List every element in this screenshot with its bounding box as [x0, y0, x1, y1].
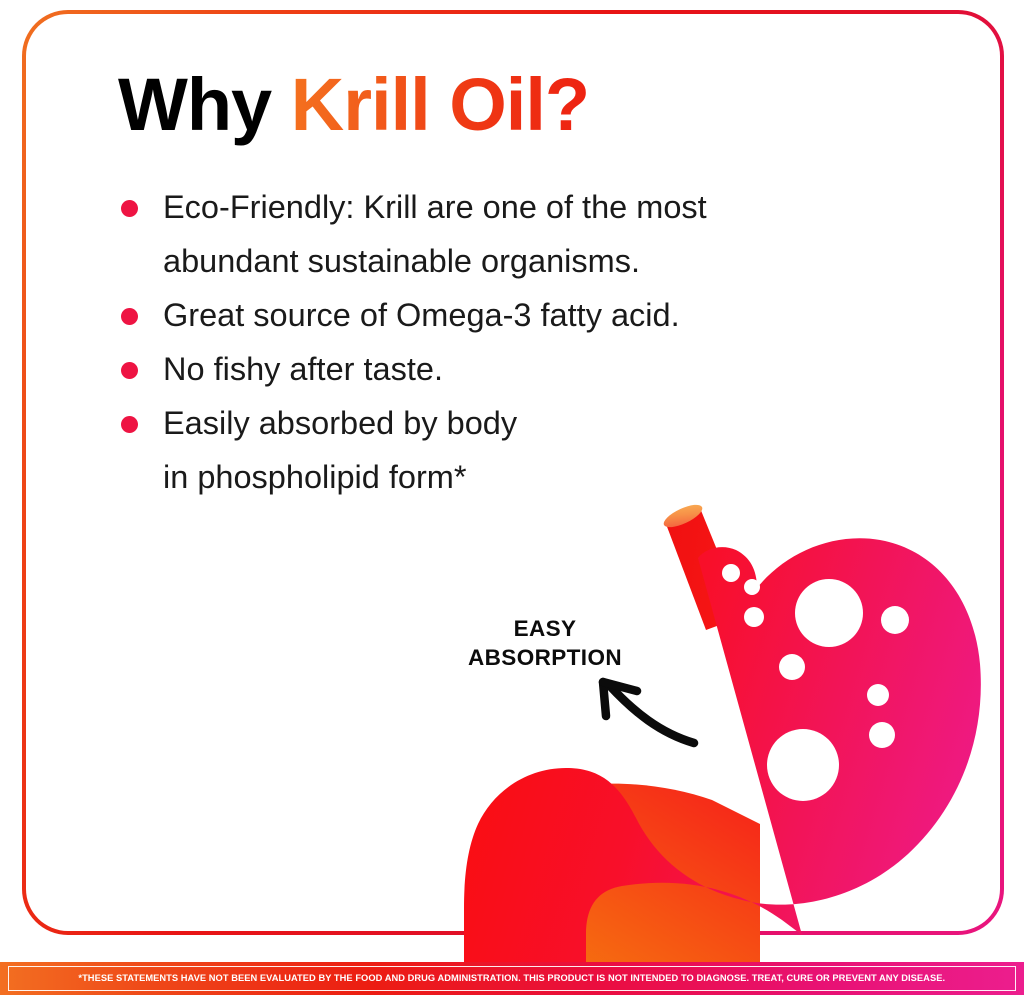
disclaimer-border: *THESE STATEMENTS HAVE NOT BEEN EVALUATE…: [8, 966, 1016, 991]
list-item-line-1: Eco-Friendly: Krill are one of the most: [163, 189, 707, 225]
bullet-dot-icon: [121, 308, 138, 325]
title-part-krill-oil: Krill Oil?: [291, 63, 589, 146]
bullet-dot-icon: [121, 362, 138, 379]
disclaimer-text: *THESE STATEMENTS HAVE NOT BEEN EVALUATE…: [79, 973, 946, 984]
annotation-line-2: ABSORPTION: [452, 643, 638, 672]
list-item: Easily absorbed by body in phospholipid …: [118, 396, 878, 504]
annotation-line-1: EASY: [452, 614, 638, 643]
list-item-line-2: in phospholipid form*: [163, 450, 878, 504]
list-item: Great source of Omega-3 fatty acid.: [118, 288, 878, 342]
list-item-line-1: Great source of Omega-3 fatty acid.: [163, 297, 680, 333]
easy-absorption-label: EASY ABSORPTION: [452, 614, 638, 672]
title-part-why: Why: [118, 63, 291, 146]
bullet-dot-icon: [121, 200, 138, 217]
fda-disclaimer-bar: *THESE STATEMENTS HAVE NOT BEEN EVALUATE…: [0, 962, 1024, 995]
benefits-list: Eco-Friendly: Krill are one of the most …: [118, 180, 878, 504]
list-item: Eco-Friendly: Krill are one of the most …: [118, 180, 878, 288]
krill-oil-infographic: Why Krill Oil? Eco-Friendly: Krill are o…: [0, 0, 1024, 995]
bullet-dot-icon: [121, 416, 138, 433]
list-item-line-1: No fishy after taste.: [163, 351, 443, 387]
list-item-line-1: Easily absorbed by body: [163, 405, 517, 441]
list-item-line-2: abundant sustainable organisms.: [163, 234, 878, 288]
list-item: No fishy after taste.: [118, 342, 878, 396]
page-title: Why Krill Oil?: [118, 68, 589, 142]
